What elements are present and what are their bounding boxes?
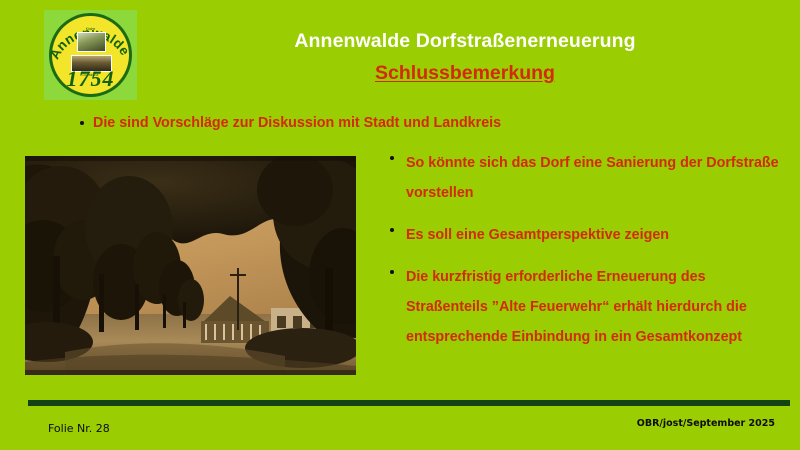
bullet-dot-icon xyxy=(390,156,394,160)
footer-divider xyxy=(28,400,790,406)
bullet-dot-icon xyxy=(390,270,394,274)
bullet-item-1-label: So könnte sich das Dorf eine Sanierung d… xyxy=(406,148,788,208)
bullet-item-3-label: Die kurzfristig erforderliche Erneuerung… xyxy=(406,262,788,352)
logo-year-text: 1754 xyxy=(44,66,137,92)
bullet-dot-icon xyxy=(390,228,394,232)
bullet-item-1: So könnte sich das Dorf eine Sanierung d… xyxy=(388,148,788,208)
logo-caption-top: Kirche xyxy=(44,27,137,31)
slide-credit-label: OBR/jost/September 2025 xyxy=(637,418,775,429)
bullet-item-2-label: Es soll eine Gesamtperspektive zeigen xyxy=(406,220,788,250)
logo-inset-photo-church xyxy=(77,32,106,52)
bullet-list-right: So könnte sich das Dorf eine Sanierung d… xyxy=(388,148,788,364)
historic-village-street-photo xyxy=(25,156,356,375)
bullet-item-intro-label: Die sind Vorschläge zur Diskussion mit S… xyxy=(93,113,700,133)
slide-number-label: Folie Nr. 28 xyxy=(48,422,110,435)
bullet-item-2: Es soll eine Gesamtperspektive zeigen xyxy=(388,220,788,250)
bullet-item-intro: Die sind Vorschläge zur Diskussion mit S… xyxy=(80,113,700,133)
slide-title: Annenwalde Dorfstraßenerneuerung xyxy=(150,30,780,53)
presentation-slide: Annenwalde Kirche Dorfstraße 1754 Annenw… xyxy=(0,0,800,450)
photo-illustration-icon xyxy=(25,156,356,375)
annenwalde-village-logo: Annenwalde Kirche Dorfstraße 1754 xyxy=(44,10,137,100)
slide-subtitle: Schlussbemerkung xyxy=(150,62,780,85)
bullet-item-3: Die kurzfristig erforderliche Erneuerung… xyxy=(388,262,788,352)
bullet-dot-icon xyxy=(80,121,84,125)
